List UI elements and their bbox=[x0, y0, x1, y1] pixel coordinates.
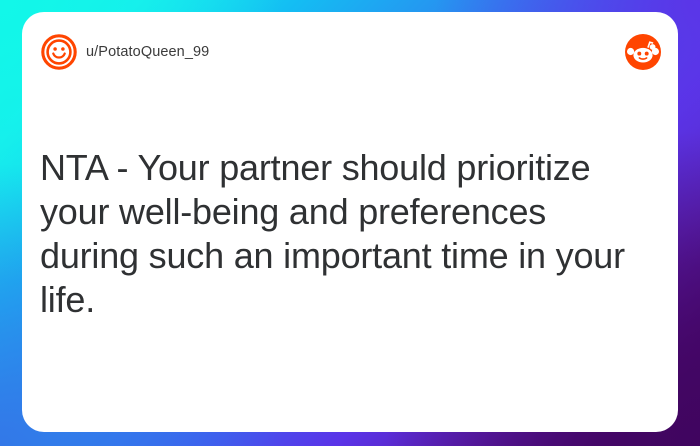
comment-text: NTA - Your partner should prioritize you… bbox=[40, 146, 650, 322]
smiley-face-avatar-icon bbox=[40, 33, 78, 71]
card-header: u/PotatoQueen_99 bbox=[22, 12, 678, 92]
screenshot-stage: u/PotatoQueen_99 bbox=[0, 0, 700, 446]
username-label: u/PotatoQueen_99 bbox=[86, 42, 209, 62]
reddit-snoo-icon[interactable] bbox=[625, 34, 661, 70]
card-body: NTA - Your partner should prioritize you… bbox=[40, 146, 650, 322]
comment-card: u/PotatoQueen_99 bbox=[22, 12, 678, 432]
